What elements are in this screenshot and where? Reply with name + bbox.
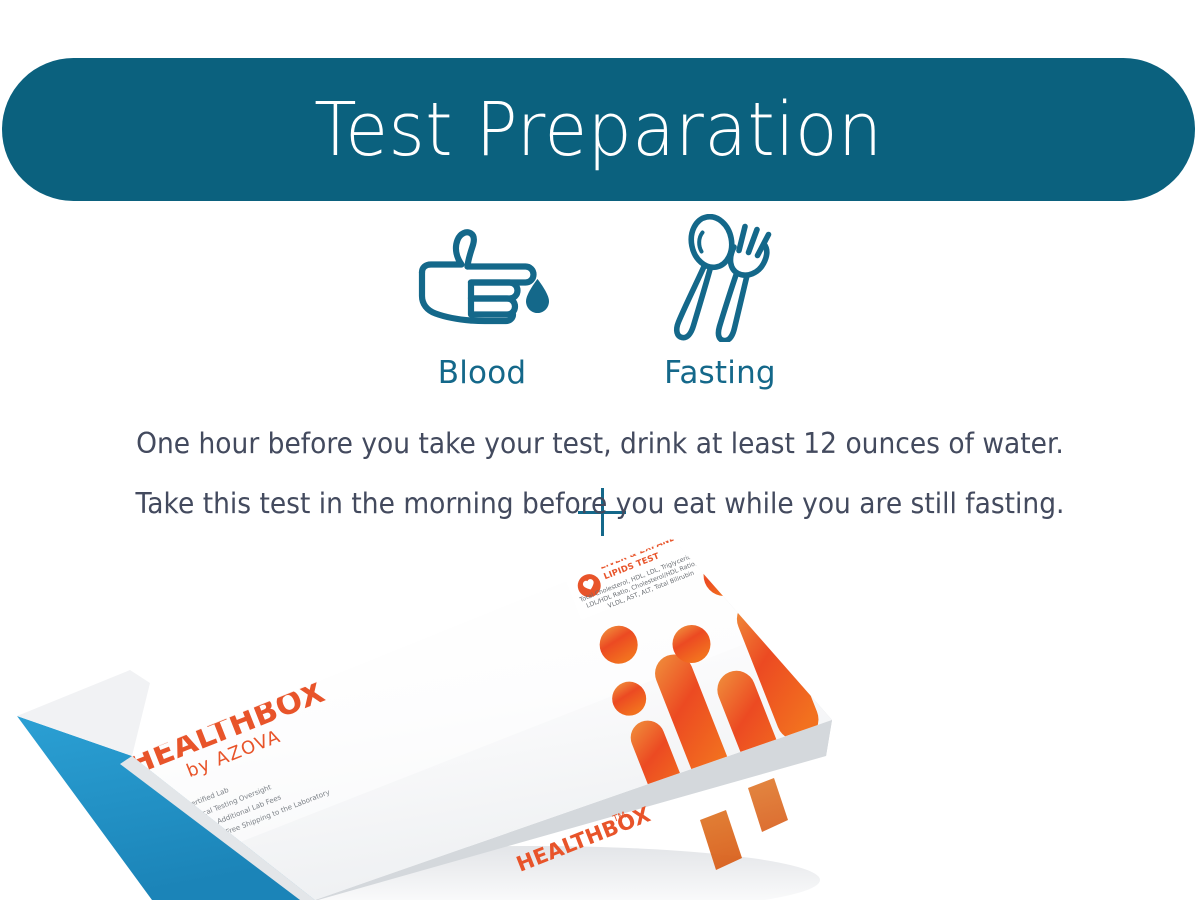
spoon-fork-icon (620, 214, 820, 342)
page-header-banner: Test Preparation (2, 58, 1195, 201)
requirement-fasting-label: Fasting (620, 358, 820, 389)
blood-drop-finger-icon (382, 214, 582, 342)
test-requirements-row: Blood (0, 214, 1200, 414)
requirement-blood-label: Blood (382, 358, 582, 389)
product-image: LIVER & EXPANDED LIPIDS TEST Total Chole… (0, 520, 1200, 900)
instruction-line-fasting: Take this test in the morning before you… (42, 490, 1158, 519)
test-preparation-page: Test Preparation (0, 0, 1200, 900)
page-title: Test Preparation (314, 93, 882, 167)
instruction-line-hydration: One hour before you take your test, drin… (42, 430, 1158, 459)
requirement-fasting: Fasting (620, 214, 820, 389)
requirement-blood: Blood (382, 214, 582, 389)
instructions-block: One hour before you take your test, drin… (0, 430, 1200, 518)
